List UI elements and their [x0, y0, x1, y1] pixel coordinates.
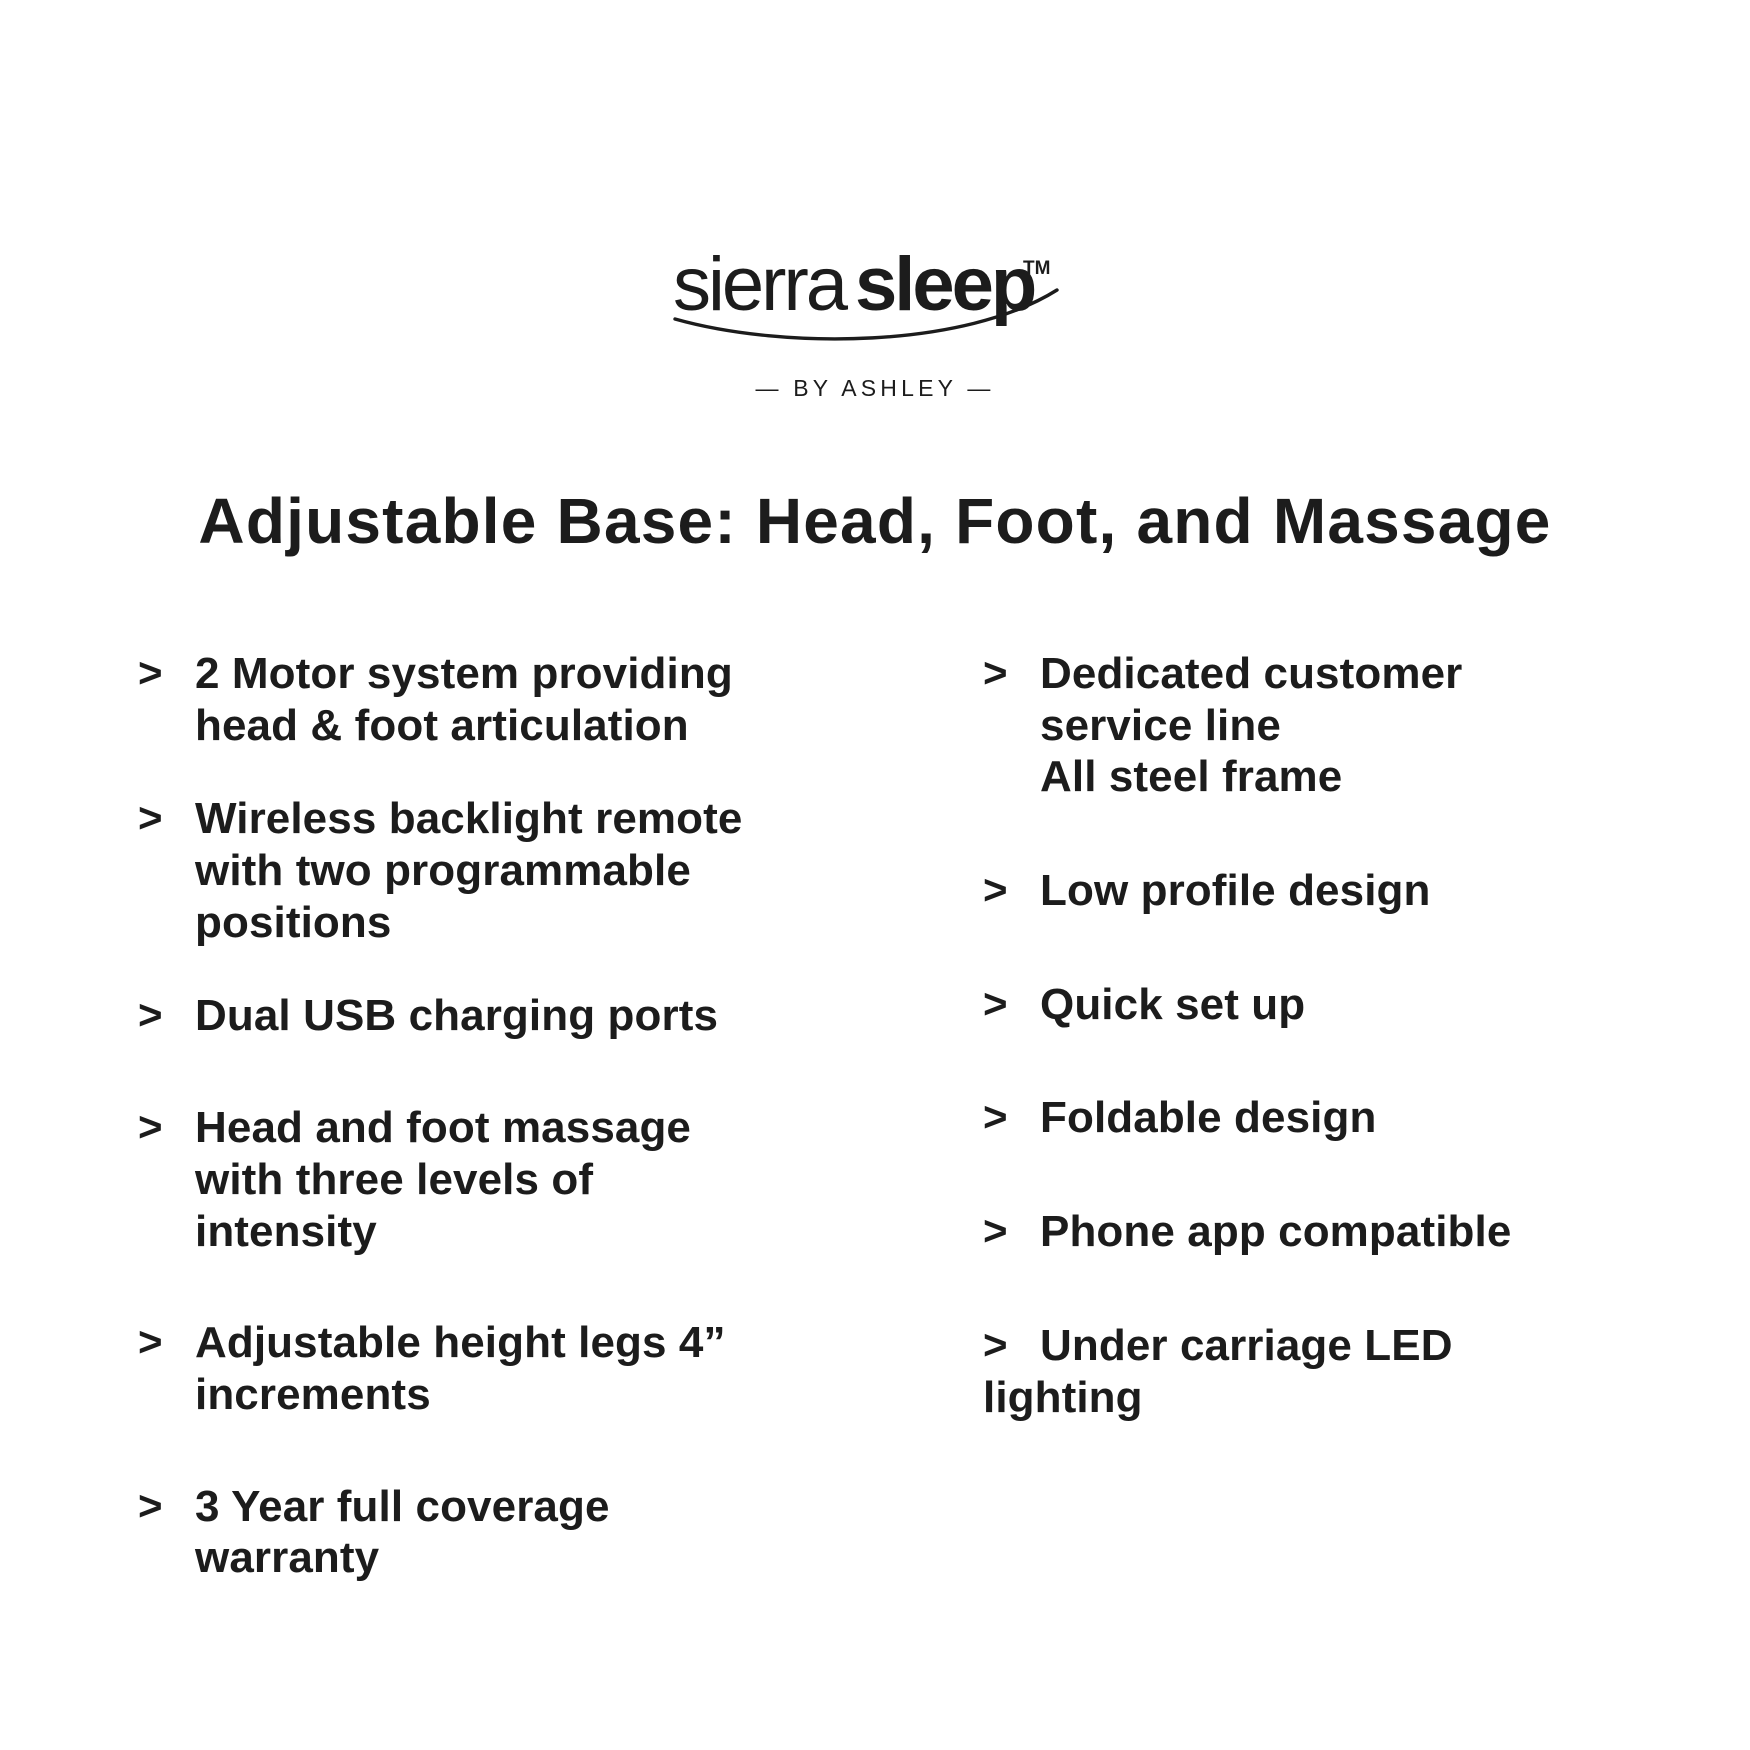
- bullet-marker-icon: >: [138, 648, 163, 697]
- feature-item: > Adjustable height legs 4” increments: [138, 1317, 818, 1420]
- feature-line: All steel frame: [1040, 751, 1623, 803]
- sierrasleep-wordmark: sierra sleep TM: [665, 238, 1085, 356]
- feature-line: intensity: [195, 1206, 818, 1258]
- feature-line: Quick set up: [1040, 979, 1623, 1031]
- feature-item: > 3 Year full coverage warranty: [138, 1481, 818, 1584]
- bullet-marker-icon: >: [138, 793, 163, 842]
- svg-text:sierra: sierra: [673, 242, 849, 327]
- sierrasleep-logo-svg: sierra sleep TM: [665, 238, 1085, 356]
- brand-byline: — BY ASHLEY —: [0, 375, 1750, 402]
- feature-line: warranty: [195, 1532, 818, 1584]
- feature-line: positions: [195, 897, 818, 949]
- feature-item: > Dual USB charging ports: [138, 990, 818, 1042]
- feature-line: increments: [195, 1369, 818, 1421]
- feature-item: > Wireless backlight remote with two pro…: [138, 793, 818, 948]
- svg-text:TM: TM: [1023, 258, 1050, 279]
- feature-item: > Under carriage LED lighting: [983, 1320, 1623, 1423]
- feature-line: Foldable design: [1040, 1092, 1623, 1144]
- feature-line: Wireless backlight remote: [195, 793, 818, 845]
- feature-line: service line: [1040, 700, 1623, 752]
- bullet-marker-icon: >: [983, 1092, 1008, 1141]
- feature-line: 2 Motor system providing: [195, 648, 818, 700]
- bullet-marker-icon: >: [983, 1320, 1008, 1369]
- feature-line: with two programmable: [195, 845, 818, 897]
- bullet-marker-icon: >: [983, 979, 1008, 1028]
- feature-item: > Head and foot massage with three level…: [138, 1102, 818, 1257]
- feature-line: with three levels of: [195, 1154, 818, 1206]
- feature-line: Under carriage LED: [1040, 1320, 1623, 1372]
- feature-column-right: > Dedicated customer service line All st…: [983, 648, 1623, 1475]
- feature-line: Phone app compatible: [1040, 1206, 1623, 1258]
- feature-line: 3 Year full coverage: [195, 1481, 818, 1533]
- feature-line: Head and foot massage: [195, 1102, 818, 1154]
- feature-item: > Phone app compatible: [983, 1206, 1623, 1258]
- bullet-marker-icon: >: [138, 1481, 163, 1530]
- feature-line: head & foot articulation: [195, 700, 818, 752]
- brand-logo: sierra sleep TM — BY ASHLEY —: [0, 238, 1750, 402]
- feature-line: Dual USB charging ports: [195, 990, 818, 1042]
- bullet-marker-icon: >: [983, 865, 1008, 914]
- feature-item: > Low profile design: [983, 865, 1623, 917]
- feature-item: > Dedicated customer service line All st…: [983, 648, 1623, 803]
- page-title: Adjustable Base: Head, Foot, and Massage: [0, 484, 1750, 558]
- feature-item: > 2 Motor system providing head & foot a…: [138, 648, 818, 751]
- feature-item: > Quick set up: [983, 979, 1623, 1031]
- bullet-marker-icon: >: [983, 648, 1008, 697]
- bullet-marker-icon: >: [138, 1102, 163, 1151]
- feature-line: Low profile design: [1040, 865, 1623, 917]
- feature-column-left: > 2 Motor system providing head & foot a…: [138, 648, 818, 1626]
- bullet-marker-icon: >: [138, 1317, 163, 1366]
- feature-item: > Foldable design: [983, 1092, 1623, 1144]
- bullet-marker-icon: >: [983, 1206, 1008, 1255]
- feature-line: Adjustable height legs 4”: [195, 1317, 818, 1369]
- bullet-marker-icon: >: [138, 990, 163, 1039]
- feature-line: Dedicated customer: [1040, 648, 1623, 700]
- feature-line: lighting: [983, 1372, 1623, 1424]
- feature-list: > 2 Motor system providing head & foot a…: [0, 648, 1750, 1648]
